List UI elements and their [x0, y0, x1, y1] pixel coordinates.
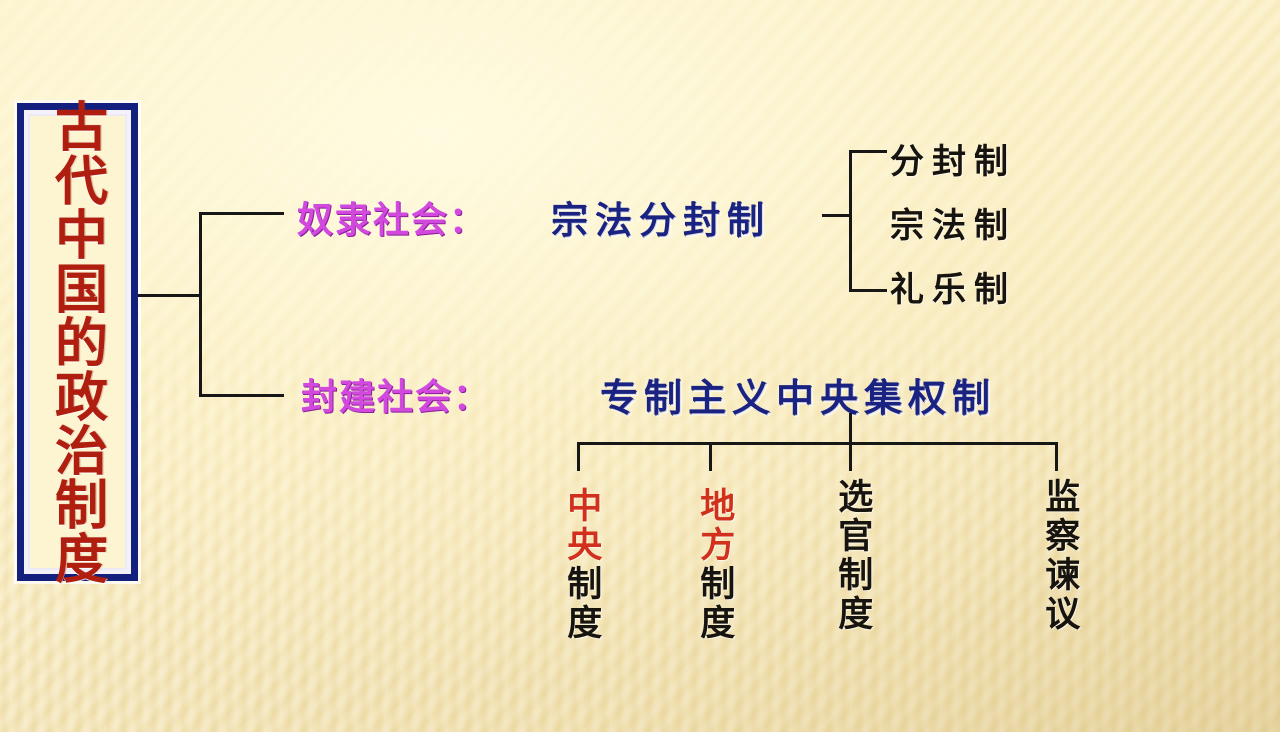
root-node-inner-frame: 古代中国的政治制度	[28, 114, 127, 570]
leaf-zhongyang-head: 中央	[561, 487, 602, 565]
leaf-xuanguan-head: 选官	[832, 478, 873, 556]
branch-concept-feudal-society: 专制主义中央集权制	[600, 367, 996, 422]
feudal-drop-4	[1055, 442, 1058, 471]
feudal-bracket-horizontal	[577, 442, 1058, 445]
root-node-box[interactable]: 古代中国的政治制度	[17, 103, 138, 581]
leaf-zhongyang-tail: 制度	[561, 565, 602, 643]
slave-bracket-vertical	[849, 150, 852, 292]
leaf-zongfazhi: 宗法制	[890, 198, 1016, 247]
branch-concept-slave-society: 宗法分封制	[551, 190, 771, 244]
leaf-difang-zhidu: 地方制度	[695, 487, 734, 643]
feudal-drop-2	[709, 442, 712, 471]
leaf-liyuezhi: 礼乐制	[890, 262, 1016, 311]
slave-bracket-arm-3	[849, 289, 887, 292]
slave-bracket-feed-line	[822, 214, 852, 217]
leaf-jiancha-jianyi: 监察谏议	[1040, 478, 1079, 634]
main-bracket-arm-top	[199, 212, 284, 215]
feudal-drop-3	[849, 442, 852, 471]
leaf-difang-tail: 制度	[694, 565, 735, 643]
root-stem-line	[138, 294, 202, 297]
branch-label-feudal-society: 封建社会：	[301, 368, 491, 420]
leaf-xuanguan-tail: 制度	[832, 556, 873, 634]
root-node-label: 古代中国的政治制度	[50, 99, 104, 585]
leaf-xuanguan-zhidu: 选官制度	[833, 478, 872, 634]
leaf-jiancha-tail: 谏议	[1039, 556, 1080, 634]
leaf-jiancha-head: 监察	[1039, 478, 1080, 556]
leaf-difang-head: 地方	[694, 487, 735, 565]
leaf-zhongyang-zhidu: 中央制度	[562, 487, 601, 643]
background-vignette	[0, 0, 1280, 732]
feudal-drop-1	[577, 442, 580, 471]
feudal-stem-vertical	[849, 413, 852, 444]
slave-bracket-arm-1	[849, 150, 887, 153]
branch-label-slave-society: 奴隶社会：	[297, 191, 487, 243]
slide-canvas: 古代中国的政治制度 奴隶社会： 宗法分封制 分封制 宗法制 礼乐制 封建社会： …	[0, 0, 1280, 732]
main-bracket-vertical	[199, 212, 202, 397]
leaf-fengjianzhi: 分封制	[890, 134, 1016, 183]
main-bracket-arm-bottom	[199, 394, 284, 397]
